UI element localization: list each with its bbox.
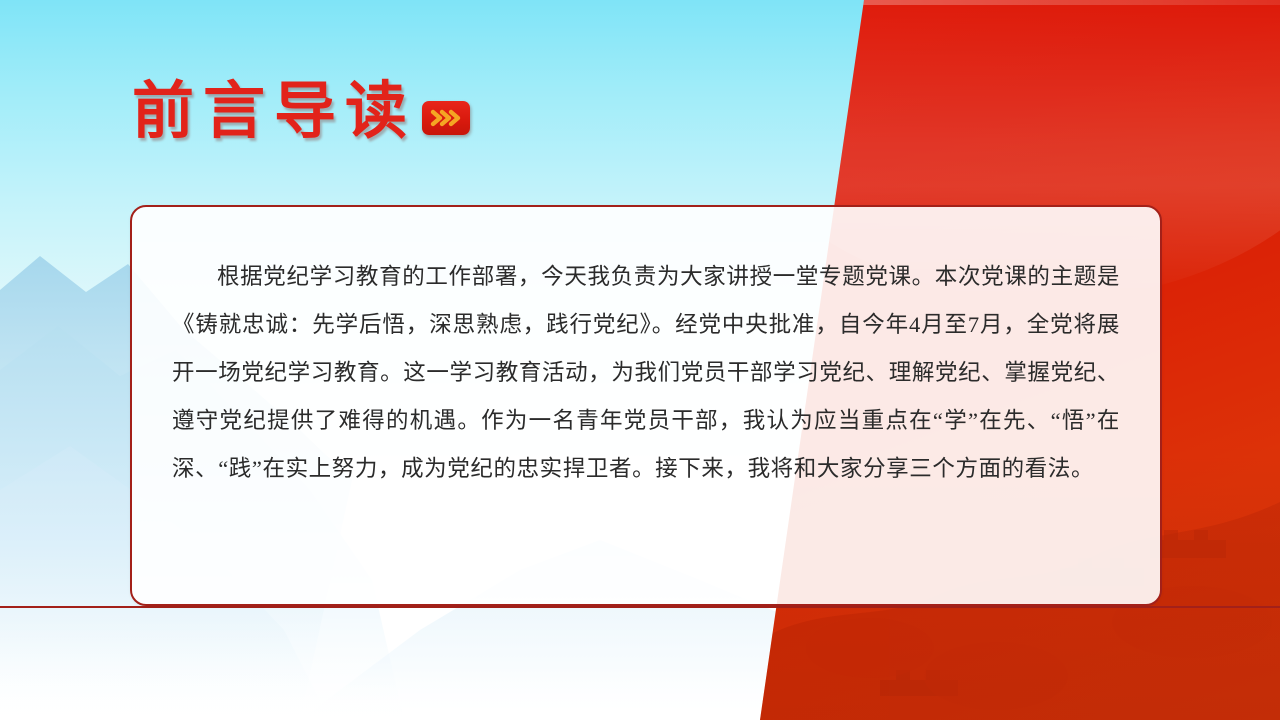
page-title-row: 前言导读 (132, 80, 470, 145)
body-paragraph: 根据党纪学习教育的工作部署，今天我负责为大家讲授一堂专题党课。本次党课的主题是《… (132, 207, 1160, 493)
page-title: 前言导读 (132, 80, 416, 145)
horizontal-rule-divider (0, 606, 1280, 608)
double-chevron-right-icon (422, 101, 470, 135)
slide-canvas: 前言导读 根据党纪学习教育的工作部署，今天我负责为大家讲授一堂专题党课。本次党课… (0, 0, 1280, 720)
content-card: 根据党纪学习教育的工作部署，今天我负责为大家讲授一堂专题党课。本次党课的主题是《… (130, 205, 1162, 606)
